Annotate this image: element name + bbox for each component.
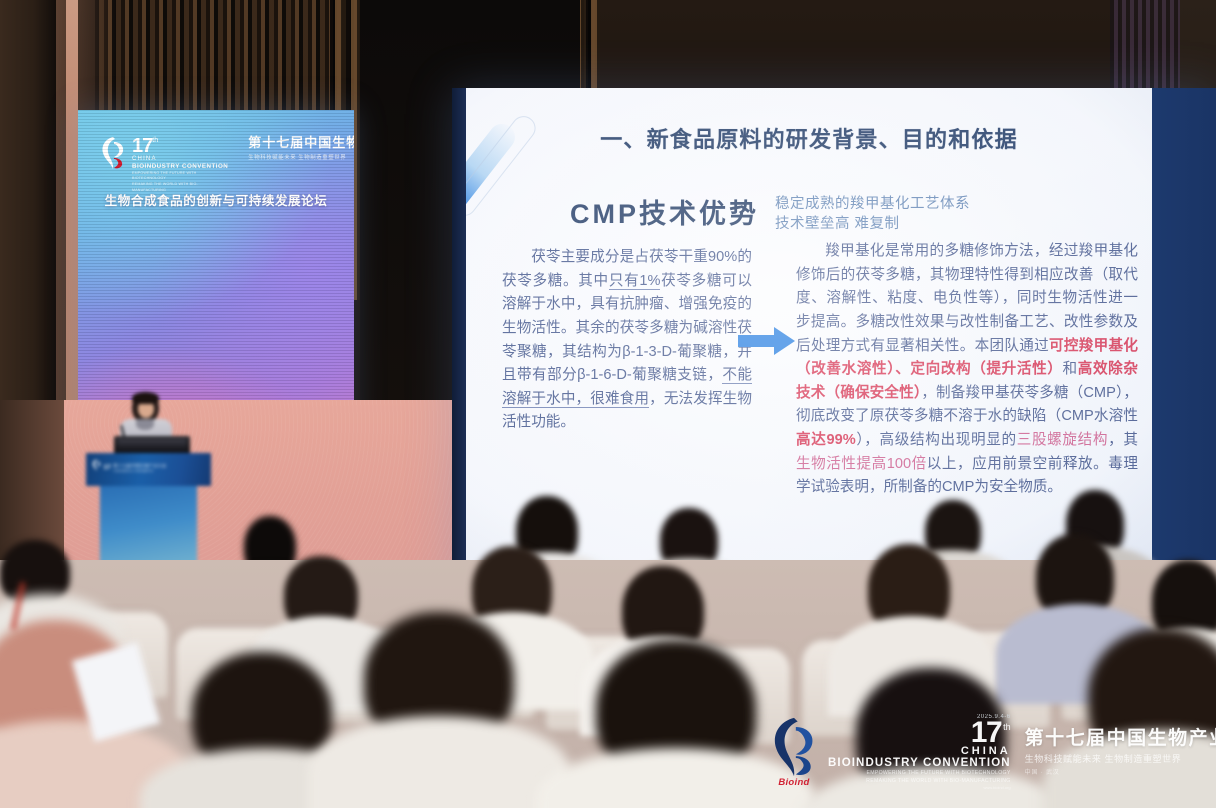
laptop [114, 436, 190, 454]
watermark-website: www.bioind.org [984, 785, 1011, 790]
slide-right-column: 羧甲基化是常用的多糖修饰方法，经过羧甲基化修饰后的茯苓多糖，其物理特性得到相应改… [796, 240, 1138, 500]
right-col-sep1: 、 [895, 361, 910, 377]
watermark-subtitle-cn: 生物科技赋能未来 生物制造重塑世界 [1025, 752, 1216, 765]
podium-bioind-icon [92, 459, 101, 475]
bioind-logo-icon [100, 136, 126, 170]
podium-subtitle: 生物科技赋能未来 生物制造重塑世界 [113, 468, 166, 471]
watermark-title-cn: 第十七届中国生物产业大会 [1025, 728, 1216, 750]
watermark-edition-row: 17 th [971, 720, 1011, 746]
watermark-tagline-1: EMPOWERING THE FUTURE WITH BIOTECHNOLOGY [866, 770, 1010, 778]
watermark-country: CHINA [961, 746, 1011, 757]
speaker-collar [136, 419, 154, 430]
speaker-hair [132, 392, 159, 404]
slide-heading: CMP技术优势 [570, 192, 759, 231]
slide-heading-sub-line2: 技术壁垒高 难复制 [775, 215, 970, 235]
screen-left-edge [452, 88, 466, 618]
podium-edition-number: 17 [103, 464, 110, 471]
right-col-p4: ，其 [1108, 432, 1138, 448]
right-col-hl5: 三股螺旋结构 [1017, 432, 1108, 448]
left-col-underline1: 只有1% [609, 273, 661, 290]
right-col-hl2: 定向改构（提升活性） [910, 361, 1062, 377]
right-col-hl4: 高达99% [796, 432, 856, 448]
banner-subtitle-cn: 生物科技赋能未来 生物制造重塑世界 [248, 153, 354, 161]
screen-right-edge [1152, 88, 1216, 618]
slide-heading-subtitle: 稳定成熟的羧甲基化工艺体系 技术壁垒高 难复制 [775, 192, 970, 234]
banner-country: CHINA [132, 156, 228, 162]
banner-forum-name: 生物合成食品的创新与可持续发展论坛 [78, 190, 354, 209]
watermark-tagline-2: REMAKING THE WORLD WITH BIO-MANUFACTURIN… [866, 778, 1011, 786]
banner-edition-block: 17 th CHINA BIOINDUSTRY CONVENTION EMPOW… [132, 136, 228, 193]
banner-tagline-1: EMPOWERING THE FUTURE WITH BIOTECHNOLOGY [132, 171, 228, 181]
watermark-edition-ordinal: th [1003, 723, 1011, 732]
conference-photo: 17 th CHINA BIOINDUSTRY CONVENTION EMPOW… [0, 0, 1216, 808]
right-col-p3: ），高级结构出现明显的 [856, 432, 1017, 448]
slide-section-title: 一、新食品原料的研发背景、目的和依据 [466, 122, 1152, 154]
right-col-hl6: 生物活性提高100倍 [796, 456, 927, 472]
laptop-screen [118, 439, 186, 450]
slide-heading-sub-line1: 稳定成熟的羧甲基化工艺体系 [775, 195, 970, 215]
podium-top-panel: 17 第十七届中国生物产业大会 生物科技赋能未来 生物制造重塑世界 [86, 453, 211, 486]
banner-edition-number: 17 [132, 136, 152, 156]
watermark-convention-en: BIOINDUSTRY CONVENTION [828, 757, 1011, 770]
watermark-brand: Bioind [766, 777, 822, 788]
watermark-edition-block: 2025.9.4-6 17 th CHINA BIOINDUSTRY CONVE… [828, 714, 1011, 791]
slide-heading-row: CMP技术优势 稳定成熟的羧甲基化工艺体系 技术壁垒高 难复制 [570, 192, 970, 234]
banner-convention-en: BIOINDUSTRY CONVENTION [132, 163, 228, 170]
slide-left-column: 茯苓主要成分是占茯苓干重90%的茯苓多糖。其中只有1%茯苓多糖可以溶解于水中，具… [502, 246, 752, 435]
watermark-edition-number: 17 [971, 720, 1001, 746]
banner-edition-ordinal: th [152, 137, 158, 144]
conference-watermark: Bioind 2025.9.4-6 17 th CHINA BIOINDUSTR… [766, 716, 1212, 788]
watermark-bioind-logo-icon: Bioind [766, 716, 822, 788]
right-arrow-icon [738, 326, 796, 356]
watermark-location-cn: 中国 · 武汉 [1025, 767, 1216, 776]
right-col-mid1: 和 [1063, 361, 1078, 377]
banner-title-block: 第十七届中国生物产业大会 生物科技赋能未来 生物制造重塑世界 [248, 136, 354, 161]
banner-title-cn: 第十七届中国生物产业大会 [248, 136, 354, 150]
banner-logo-row: 17 th CHINA BIOINDUSTRY CONVENTION EMPOW… [100, 136, 338, 193]
watermark-title-block: 第十七届中国生物产业大会 生物科技赋能未来 生物制造重塑世界 中国 · 武汉 [1025, 728, 1216, 777]
podium-logo: 17 第十七届中国生物产业大会 生物科技赋能未来 生物制造重塑世界 [92, 459, 166, 475]
